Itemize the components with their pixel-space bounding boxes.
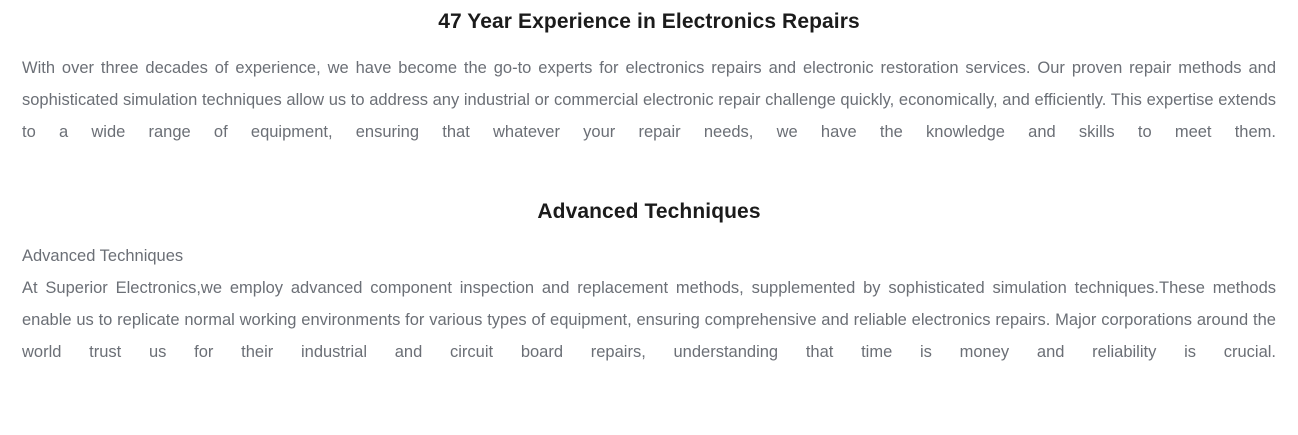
section-heading-advanced-techniques: Advanced Techniques [22, 180, 1276, 227]
advanced-techniques-paragraph: At Superior Electronics,we employ advanc… [22, 272, 1276, 400]
intro-paragraph: With over three decades of experience, w… [22, 37, 1276, 180]
page-title: 47 Year Experience in Electronics Repair… [22, 0, 1276, 37]
subheading-advanced-techniques: Advanced Techniques [22, 227, 1276, 272]
article-content: 47 Year Experience in Electronics Repair… [0, 0, 1298, 400]
